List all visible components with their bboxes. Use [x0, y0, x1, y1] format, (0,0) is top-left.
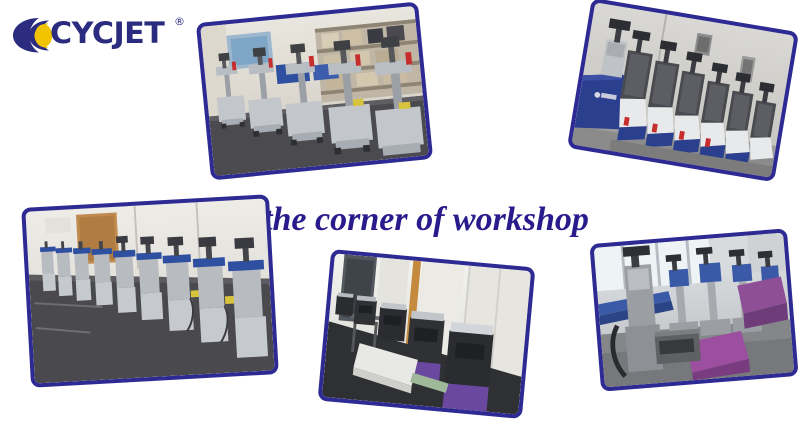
slide-canvas: CYCJET ® the corner of workshop: [0, 0, 800, 429]
photo-frame-bottom-left: [21, 194, 279, 388]
workshop-photo-bottom-right: [594, 233, 795, 388]
photo-frame-top-right: [567, 0, 799, 182]
page-title: the corner of workshop: [236, 200, 616, 240]
workshop-photo-bottom-left: [25, 198, 274, 383]
workshop-photo-top-right: [572, 2, 795, 177]
registered-trademark-icon: ®: [174, 16, 185, 27]
workshop-photo-bottom-center: [322, 253, 531, 414]
brand-wordmark: CYCJET: [50, 15, 164, 51]
workshop-photo-top-left: [200, 6, 429, 176]
cycjet-logo: CYCJET ®: [8, 12, 193, 56]
photo-frame-bottom-center: [318, 249, 536, 419]
photo-frame-bottom-right: [589, 228, 798, 391]
photo-frame-top-left: [196, 1, 433, 180]
